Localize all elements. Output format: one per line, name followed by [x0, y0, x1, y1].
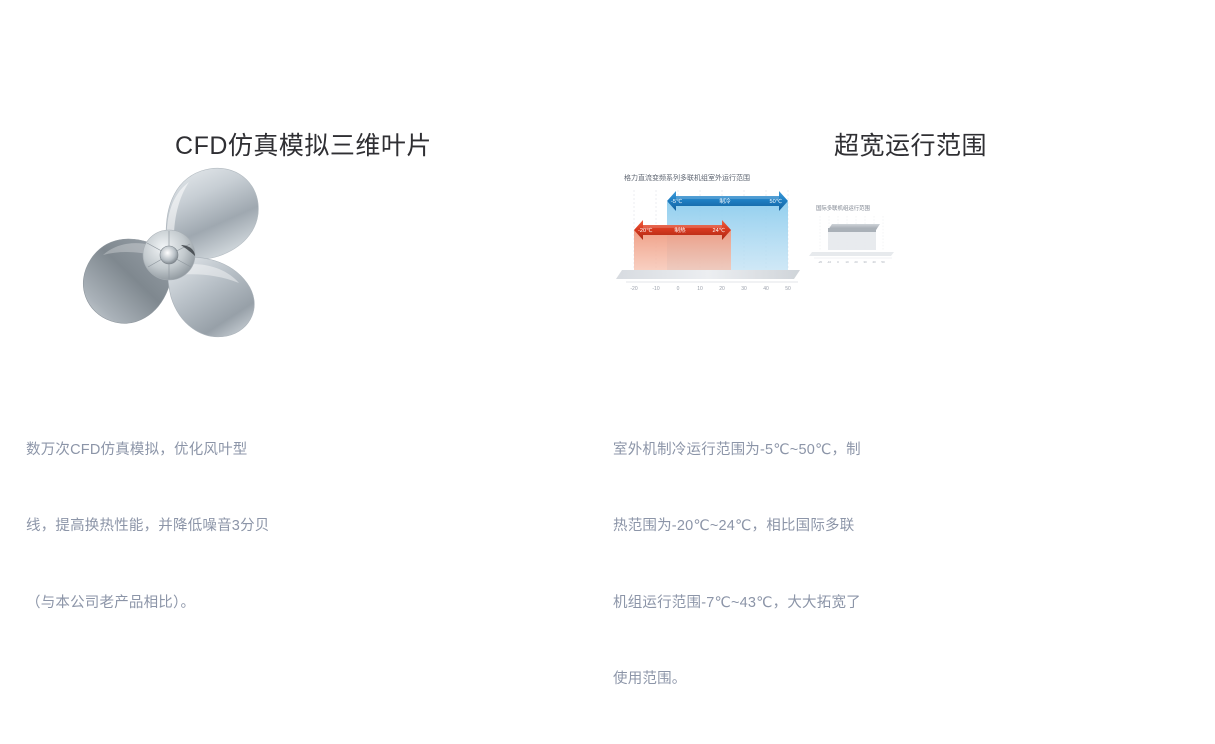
feature-sections: CFD仿真模拟三维叶片 [0, 0, 1215, 554]
feature-media-operating-range: 格力直流变频系列多联机组室外运行范围 [607, 150, 1214, 350]
reference-x-tick-label: 20 [854, 260, 858, 264]
description-line: 机组运行范围-7℃~43℃，大大拓宽了 [613, 591, 861, 617]
feature-card-wide-operating-range: 超宽运行范围 [607, 0, 1214, 554]
chart-x-tick-labels: -20 -10 0 10 20 30 40 50 [630, 286, 791, 292]
operating-range-chart-image: 格力直流变频系列多联机组室外运行范围 [612, 158, 902, 298]
reference-x-tick-labels: -20 -10 0 10 20 30 40 50 [818, 260, 885, 264]
reference-x-tick-label: 40 [872, 260, 876, 264]
reference-baseplate [809, 252, 894, 256]
feature-description-cfd-blade: 数万次CFD仿真模拟，优化风叶型 线，提高换热性能，并降低噪音3分贝 （与本公司… [26, 387, 269, 668]
x-tick-label: -20 [630, 286, 637, 292]
reference-x-tick-label: 30 [863, 260, 867, 264]
x-tick-label: 30 [741, 286, 747, 292]
reference-x-tick-label: 10 [845, 260, 849, 264]
chart-baseplate [616, 270, 800, 279]
description-line: 线，提高换热性能，并降低噪音3分贝 [26, 514, 269, 540]
heating-series-label: 制热 [674, 226, 686, 234]
cooling-series-label: 制冷 [719, 197, 731, 205]
reference-chart-group: 国际多联机组运行范围 [809, 204, 894, 264]
description-line: 数万次CFD仿真模拟，优化风叶型 [26, 438, 269, 464]
reference-x-tick-label: 50 [881, 260, 885, 264]
feature-card-cfd-blade: CFD仿真模拟三维叶片 [0, 0, 607, 554]
axial-fan-impeller-image [55, 155, 285, 350]
heating-start-label: -20℃ [638, 227, 652, 234]
reference-range-bar-face [828, 228, 876, 232]
description-line: 室外机制冷运行范围为-5℃~50℃，制 [613, 438, 861, 464]
reference-range-column [828, 230, 876, 250]
reference-chart-title: 国际多联机组运行范围 [816, 204, 870, 212]
heating-range-column [634, 230, 731, 270]
description-line: 使用范围。 [613, 667, 861, 693]
x-tick-label: 0 [677, 286, 680, 292]
x-tick-label: 20 [719, 286, 725, 292]
reference-x-tick-label: -20 [818, 260, 823, 264]
x-tick-label: 50 [785, 286, 791, 292]
cooling-start-label: -5℃ [671, 198, 682, 205]
feature-description-wide-operating-range: 室外机制冷运行范围为-5℃~50℃，制 热范围为-20℃~24℃，相比国际多联 … [613, 387, 861, 744]
reference-x-tick-label: -10 [827, 260, 832, 264]
heating-end-label: 24℃ [712, 227, 725, 234]
x-tick-label: 40 [763, 286, 769, 292]
fan-hub-center [160, 246, 178, 264]
chart-title: 格力直流变频系列多联机组室外运行范围 [624, 173, 750, 182]
description-line: 热范围为-20℃~24℃，相比国际多联 [613, 514, 861, 540]
reference-x-tick-label: 0 [837, 260, 839, 264]
x-tick-label: 10 [697, 286, 703, 292]
feature-media-cfd-blade [0, 150, 607, 350]
description-line: （与本公司老产品相比）。 [26, 591, 269, 617]
x-tick-label: -10 [652, 286, 659, 292]
cooling-end-label: 50℃ [769, 198, 782, 205]
